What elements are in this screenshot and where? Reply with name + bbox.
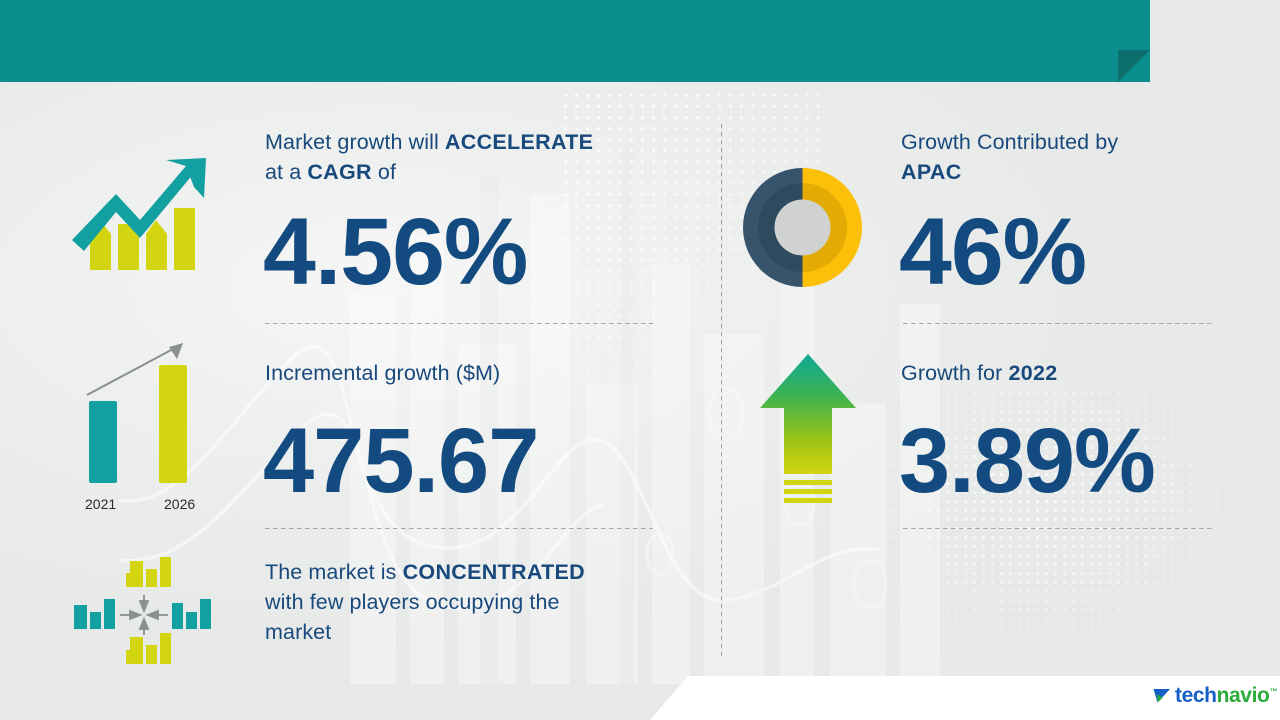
growth-chart-icon xyxy=(68,150,218,280)
donut-chart-icon xyxy=(740,165,865,290)
right-divider-2 xyxy=(903,528,1215,529)
cagr-label-line2-bold: CAGR xyxy=(307,160,372,184)
concentration-bold: CONCENTRATED xyxy=(403,560,585,584)
cagr-label-bold: ACCELERATE xyxy=(445,130,593,154)
header-banner xyxy=(0,0,1150,82)
bar-label-2026: 2026 xyxy=(164,496,195,512)
up-arrow-icon xyxy=(758,352,858,507)
apac-label-bold: APAC xyxy=(901,160,962,184)
concentration-lead: The market is xyxy=(265,560,403,584)
apac-value: 46% xyxy=(899,205,1086,300)
infographic-canvas: GLOBAL HIGH VOLUME DISPENSING SYSTEMS MA… xyxy=(0,0,1280,720)
incremental-growth-label: Incremental growth ($M) xyxy=(265,358,500,388)
cagr-value: 4.56% xyxy=(263,205,527,300)
logo-text-tech: tech xyxy=(1175,684,1217,707)
concentration-line2: with few players occupying the xyxy=(265,590,560,614)
footer-bar xyxy=(0,676,1280,720)
growth-2022-lead: Growth for xyxy=(901,361,1008,385)
bar-comparison-icon xyxy=(65,333,215,503)
growth-2022-bold: 2022 xyxy=(1008,361,1057,385)
cagr-label-line2-tail: of xyxy=(372,160,396,184)
apac-label: Growth Contributed by APAC xyxy=(901,127,1231,187)
cagr-label-line2-lead: at a xyxy=(265,160,307,184)
technavio-mark-icon xyxy=(1152,686,1172,706)
cagr-label-lead: Market growth will xyxy=(265,130,445,154)
left-divider-1 xyxy=(265,323,653,324)
concentration-line3: market xyxy=(265,620,331,644)
growth-2022-label: Growth for 2022 xyxy=(901,358,1057,388)
logo-text-navio: navio xyxy=(1217,684,1270,707)
apac-label-lead: Growth Contributed by xyxy=(901,130,1118,154)
market-concentration-icon xyxy=(68,555,218,670)
concentration-label: The market is CONCENTRATED with few play… xyxy=(265,557,665,647)
bar-label-2021: 2021 xyxy=(85,496,116,512)
header-fold-corner xyxy=(1118,50,1150,82)
right-divider-1 xyxy=(903,323,1215,324)
incremental-growth-value: 475.67 xyxy=(263,415,538,507)
cagr-label: Market growth will ACCELERATE at a CAGR … xyxy=(265,127,665,187)
logo-trademark: ™ xyxy=(1269,687,1277,696)
growth-2022-value: 3.89% xyxy=(899,415,1155,507)
left-divider-2 xyxy=(265,528,653,529)
column-divider xyxy=(721,124,722,656)
technavio-logo[interactable]: technavio™ xyxy=(1152,684,1277,708)
